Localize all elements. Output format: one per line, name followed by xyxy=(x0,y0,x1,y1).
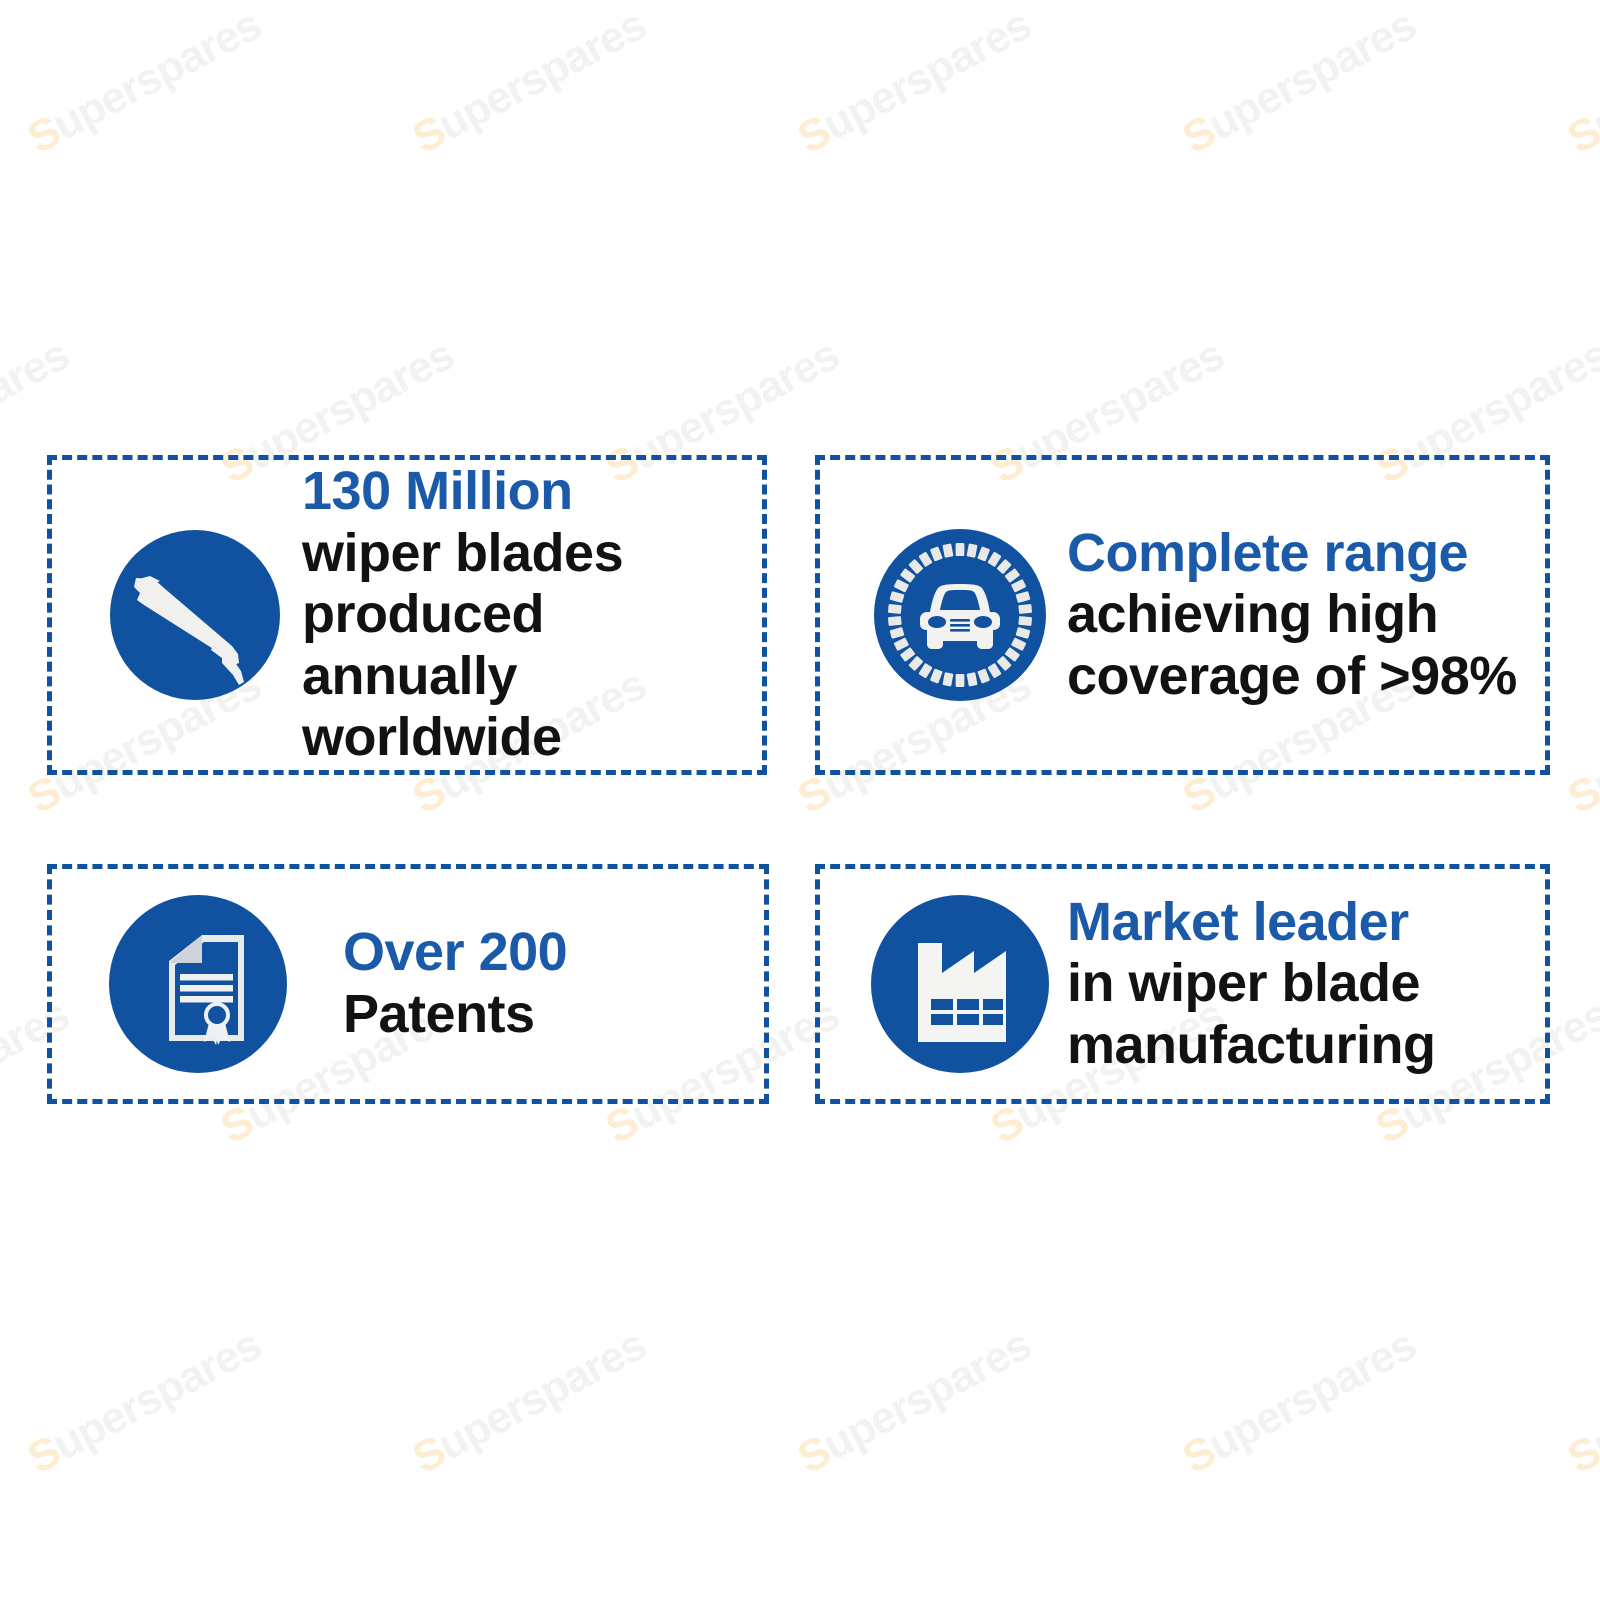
panel-icon-wrapper xyxy=(820,529,1067,701)
watermark-initial: S xyxy=(405,107,453,164)
watermark-rest: uperspares xyxy=(815,1320,1039,1470)
panel-text-highlight: Complete range xyxy=(1067,523,1468,583)
panel-text-normal: Patents xyxy=(343,984,535,1044)
watermark-rest: uperspares xyxy=(45,1320,269,1470)
wiper-blade-icon xyxy=(110,530,280,700)
factory-icon xyxy=(871,895,1049,1073)
watermark-rest: uperspares xyxy=(815,0,1039,150)
watermark-initial: S xyxy=(790,1427,838,1484)
infographic-canvas: SupersparesSupersparesSupersparesSupersp… xyxy=(0,0,1600,1600)
panel-text-line: produced annually xyxy=(302,584,752,707)
watermark-initial: S xyxy=(405,1427,453,1484)
watermark-initial: S xyxy=(983,1097,1031,1154)
watermark-text: Superspares xyxy=(1560,0,1600,164)
panel-text: Complete range achieving high coverage o… xyxy=(1067,523,1545,708)
watermark-rest: uperspares xyxy=(1585,660,1600,810)
panel-text-line: Over 200 Patents xyxy=(343,922,754,1045)
watermark-initial: S xyxy=(1560,1427,1600,1484)
stat-panel-wiper-blades: 130 Million wiper blades produced annual… xyxy=(47,455,767,775)
panel-text: Over 200 Patents xyxy=(305,922,764,1045)
panel-text: 130 Million wiper blades produced annual… xyxy=(302,461,762,769)
watermark-text: Superspares xyxy=(405,0,654,164)
watermark-initial: S xyxy=(598,1097,646,1154)
panel-text-line: in wiper blade xyxy=(1067,953,1535,1015)
watermark-initial: S xyxy=(790,107,838,164)
panel-text-highlight: 130 Million xyxy=(302,461,573,521)
watermark-text: Superspares xyxy=(20,0,269,164)
stat-panel-patents: Over 200 Patents xyxy=(47,864,769,1104)
watermark-text: Superspares xyxy=(1560,1320,1600,1484)
watermark-initial: S xyxy=(1368,1097,1416,1154)
watermark-rest: uperspares xyxy=(1585,1320,1600,1470)
panel-text-line: 130 Million xyxy=(302,461,752,523)
watermark-rest: uperspares xyxy=(430,0,654,150)
panel-text-line: Complete range xyxy=(1067,523,1535,585)
panel-text: Market leader in wiper blade manufacturi… xyxy=(1067,892,1545,1077)
panel-text-line: Market leader xyxy=(1067,892,1535,954)
panel-text-highlight: Market leader xyxy=(1067,892,1409,952)
watermark-initial: S xyxy=(1560,767,1600,824)
watermark-rest: uperspares xyxy=(1200,1320,1424,1470)
watermark-initial: S xyxy=(1175,767,1223,824)
watermark-text: Superspares xyxy=(790,1320,1039,1484)
watermark-text: Superspares xyxy=(405,1320,654,1484)
watermark-text: Superspares xyxy=(1175,1320,1424,1484)
watermark-layer: SupersparesSupersparesSupersparesSupersp… xyxy=(0,0,1600,1600)
panel-icon-wrapper xyxy=(820,895,1067,1073)
watermark-initial: S xyxy=(790,767,838,824)
watermark-initial: S xyxy=(1560,107,1600,164)
panel-text-line: coverage of >98% xyxy=(1067,646,1535,708)
watermark-initial: S xyxy=(20,107,68,164)
watermark-rest: uperspares xyxy=(1200,0,1424,150)
watermark-initial: S xyxy=(213,1097,261,1154)
patent-certificate-icon xyxy=(109,895,287,1073)
watermark-text: Superspares xyxy=(1175,0,1424,164)
stat-panel-complete-range: Complete range achieving high coverage o… xyxy=(815,455,1550,775)
panel-text-line: worldwide xyxy=(302,707,752,769)
panel-text-line: manufacturing xyxy=(1067,1015,1535,1077)
car-in-dashed-circle-icon xyxy=(874,529,1046,701)
watermark-initial: S xyxy=(20,767,68,824)
panel-text-line: wiper blades xyxy=(302,523,752,585)
watermark-text: Superspares xyxy=(20,1320,269,1484)
watermark-text: Superspares xyxy=(1560,660,1600,824)
stat-panel-market-leader: Market leader in wiper blade manufacturi… xyxy=(815,864,1550,1104)
panel-text-line: achieving high xyxy=(1067,584,1535,646)
watermark-rest: uperspares xyxy=(430,1320,654,1470)
panel-text-highlight: Over 200 xyxy=(343,922,567,982)
watermark-rest: uperspares xyxy=(1585,0,1600,150)
watermark-initial: S xyxy=(20,1427,68,1484)
watermark-initial: S xyxy=(405,767,453,824)
watermark-rest: uperspares xyxy=(45,0,269,150)
watermark-initial: S xyxy=(1175,107,1223,164)
panel-icon-wrapper xyxy=(52,895,305,1073)
watermark-initial: S xyxy=(1175,1427,1223,1484)
watermark-text: Superspares xyxy=(790,0,1039,164)
panel-icon-wrapper xyxy=(52,530,302,700)
